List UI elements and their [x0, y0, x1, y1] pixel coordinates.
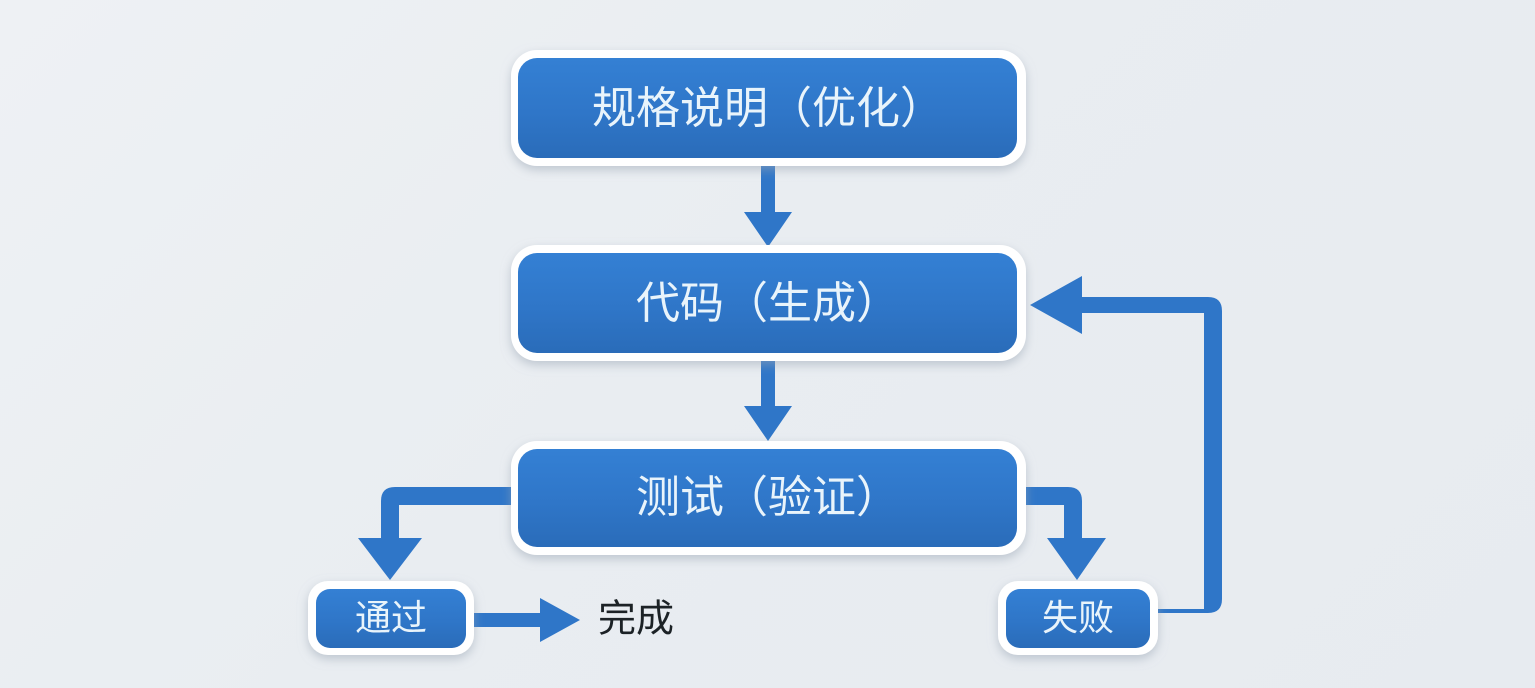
node-spec-label: 规格说明（优化）: [592, 83, 944, 134]
node-fail[interactable]: 失败: [998, 581, 1158, 655]
edge-spec-to-code: [744, 165, 792, 247]
flowchart-svg: 规格说明（优化） 代码（生成） 测试（验证） 通过 失败 完成: [0, 0, 1535, 688]
edge-pass-to-done: [474, 598, 580, 642]
node-pass[interactable]: 通过: [308, 581, 474, 655]
node-code[interactable]: 代码（生成）: [511, 245, 1026, 361]
node-done-label: 完成: [598, 597, 674, 641]
node-test[interactable]: 测试（验证）: [511, 441, 1026, 555]
node-done: 完成: [598, 597, 674, 641]
node-code-label: 代码（生成）: [636, 278, 900, 329]
node-test-label: 测试（验证）: [636, 472, 900, 523]
node-spec[interactable]: 规格说明（优化）: [511, 50, 1026, 166]
diagram-canvas: 规格说明（优化） 代码（生成） 测试（验证） 通过 失败 完成: [0, 0, 1535, 688]
edge-test-to-pass: [358, 487, 511, 580]
edge-test-to-fail: [1026, 487, 1106, 580]
edge-fail-to-code: [1030, 276, 1222, 613]
edge-code-to-test: [744, 358, 792, 441]
node-pass-label: 通过: [355, 598, 427, 639]
node-fail-label: 失败: [1042, 598, 1114, 639]
